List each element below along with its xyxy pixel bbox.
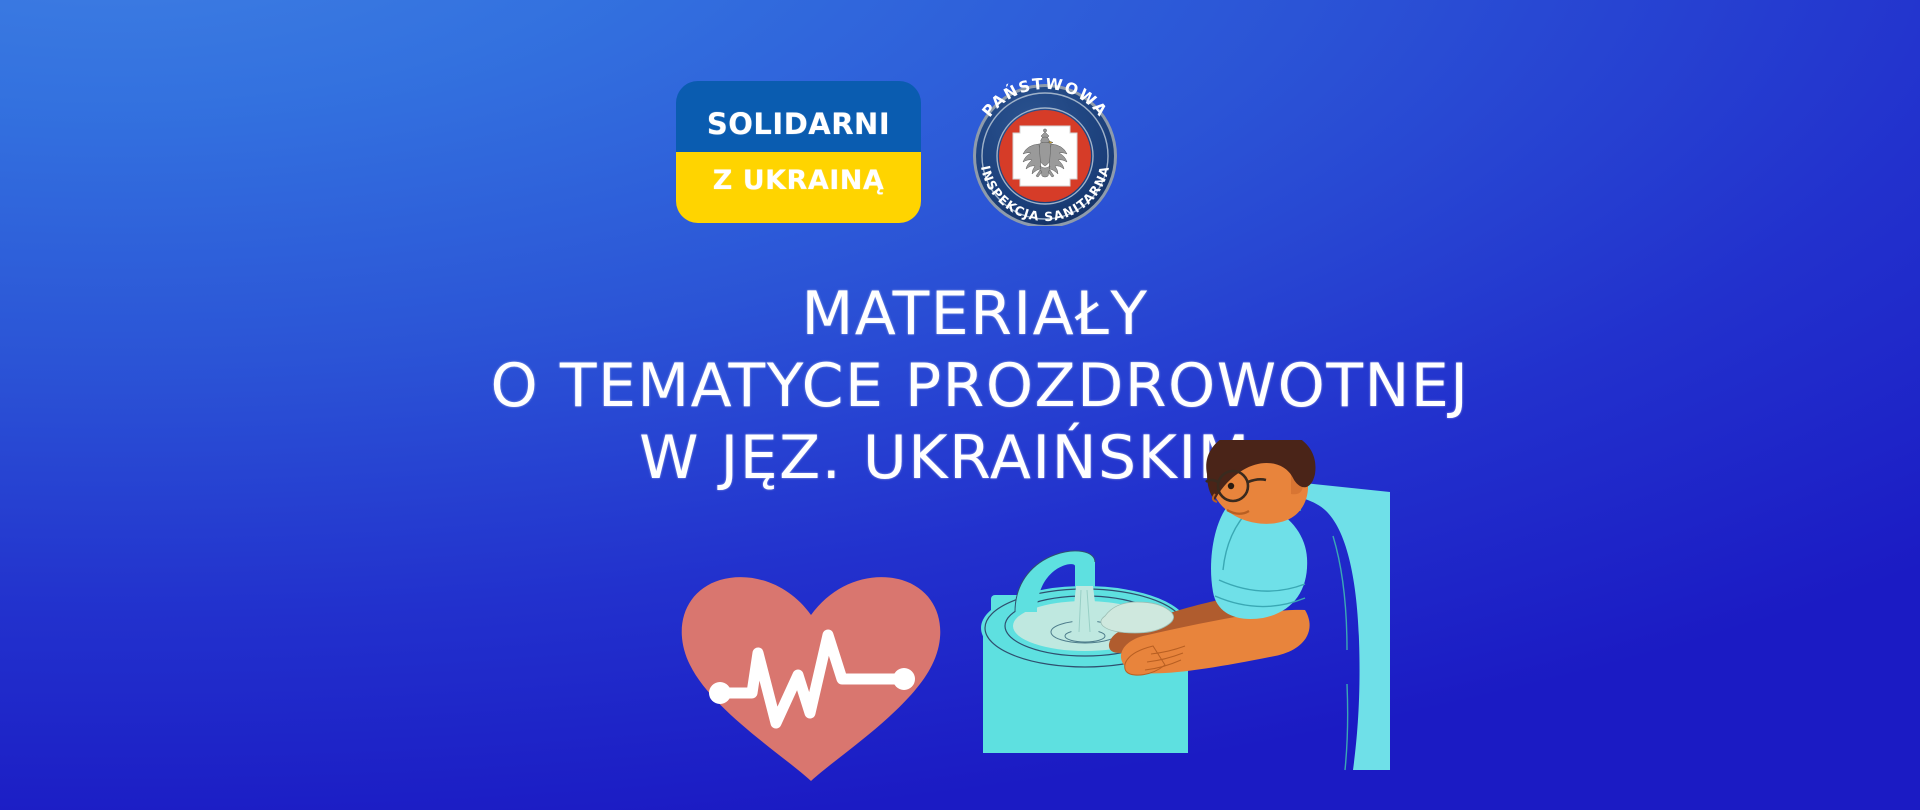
solidarni-z-ukraina-badge: SOLIDARNI Z UKRAINĄ <box>676 81 921 223</box>
badge-label-z-ukraina: Z UKRAINĄ <box>676 165 921 196</box>
handwashing-illustration <box>975 440 1390 785</box>
person-head <box>1206 440 1316 524</box>
poster-canvas: SOLIDARNI Z UKRAINĄ <box>0 0 1920 810</box>
heart-heartbeat-icon <box>676 573 946 785</box>
ecg-right-dot <box>893 668 915 690</box>
headline-block: MATERIAŁY O TEMATYCE PROZDROWOTNEJ W JĘZ… <box>0 278 1920 494</box>
ecg-left-dot <box>709 682 731 704</box>
panstwowa-inspekcja-sanitarna-emblem: PAŃSTWOWA INSPEKCJA SANITARNA <box>960 78 1130 226</box>
badge-label-solidarni: SOLIDARNI <box>676 107 921 141</box>
eye <box>1228 483 1234 489</box>
headline-line-1: MATERIAŁY <box>15 278 1920 350</box>
headline-line-2: O TEMATYCE PROZDROWOTNEJ <box>20 350 1920 422</box>
logo-row: SOLIDARNI Z UKRAINĄ <box>660 78 1140 268</box>
headline-line-3: W JĘZ. UKRAIŃSKIM <box>0 422 1905 494</box>
